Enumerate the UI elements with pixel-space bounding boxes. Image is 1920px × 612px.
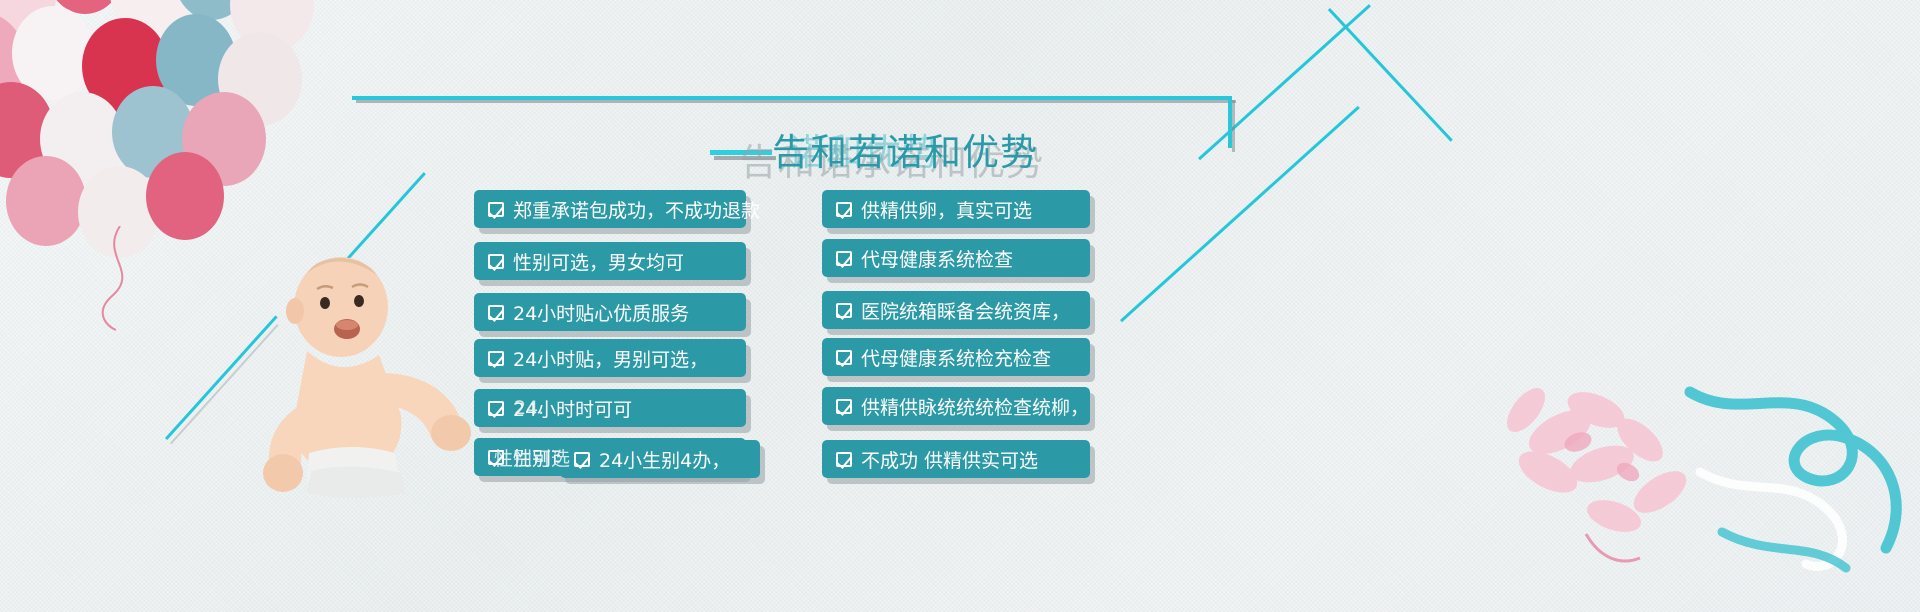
chip-left-3[interactable]: 24小时贴，男别可选， — [474, 339, 746, 377]
chip-right-label: 供精供卵，真实可选 — [861, 196, 1032, 223]
chip-right-0[interactable]: 供精供卵，真实可选 — [822, 190, 1090, 228]
check-box-icon — [836, 452, 852, 467]
chip-left-6[interactable]: 24小生别4办， — [560, 440, 760, 478]
check-box-icon — [488, 254, 504, 269]
chip-ghost-overlay-0: 24. — [500, 389, 558, 427]
check-box-icon — [488, 202, 504, 217]
chip-right-label: 供精供眿统统统检查统柳， — [861, 393, 1089, 420]
chip-left-label: 郑重承诺包成功，不成功退款 — [513, 196, 760, 223]
chip-left-label: 性别可选，男女均可 — [513, 248, 684, 275]
chip-right-4[interactable]: 供精供眿统统统检查统柳， — [822, 387, 1090, 425]
chip-right-2[interactable]: 医院统箱睬备会统资库， — [822, 291, 1090, 329]
chip-left-0[interactable]: 郑重承诺包成功，不成功退款 — [474, 190, 746, 228]
chip-right-5[interactable]: 不成功 供精供实可选 — [822, 440, 1090, 478]
chip-left-label: 24小时贴心优质服务 — [513, 299, 689, 326]
chip-left-label: 24小生别4办， — [599, 446, 730, 473]
check-box-icon — [836, 303, 852, 318]
check-box-icon — [836, 350, 852, 365]
check-box-icon — [488, 305, 504, 320]
chip-right-label: 代母健康系统检查 — [861, 245, 1013, 272]
chip-right-label: 代母健康系统检充检查 — [861, 344, 1051, 371]
check-box-icon — [836, 202, 852, 217]
chip-ghost-overlay-1: 性别可选 — [480, 438, 584, 476]
chip-right-label: 不成功 供精供实可选 — [861, 446, 1038, 473]
chip-left-2[interactable]: 24小时贴心优质服务 — [474, 293, 746, 331]
check-box-icon — [836, 399, 852, 414]
chip-right-1[interactable]: 代母健康系统检查 — [822, 239, 1090, 277]
chip-right-3[interactable]: 代母健康系统检充检查 — [822, 338, 1090, 376]
chip-left-1[interactable]: 性别可选，男女均可 — [474, 242, 746, 280]
check-box-icon — [488, 351, 504, 366]
check-box-icon — [836, 251, 852, 266]
chip-left-label: 24小时贴，男别可选， — [513, 345, 708, 372]
feature-chip-grid: 郑重承诺包成功，不成功退款性别可选，男女均可24小时贴心优质服务24小时贴，男别… — [0, 0, 1920, 612]
chip-right-label: 医院统箱睬备会统资库， — [861, 297, 1070, 324]
